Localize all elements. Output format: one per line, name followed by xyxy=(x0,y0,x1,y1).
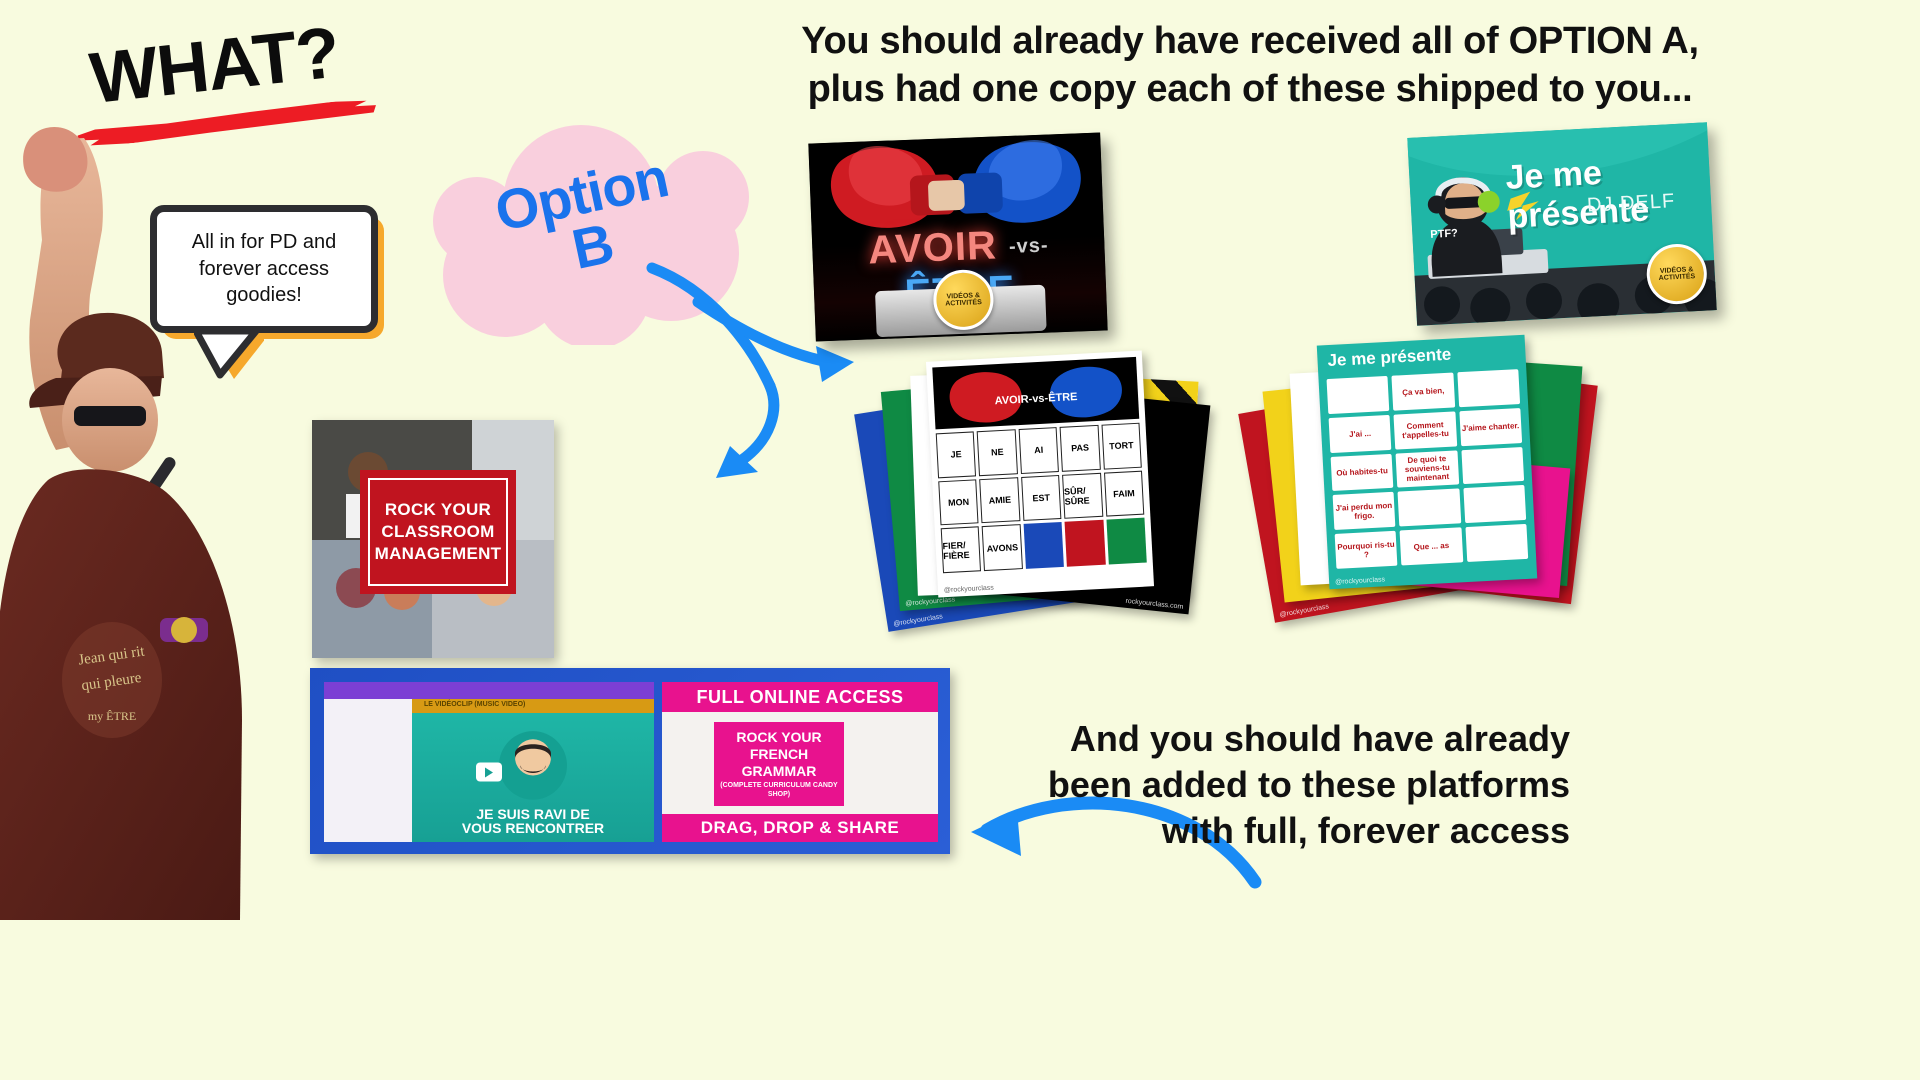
stack-card-top: AVOIR-vs-ÊTRE JE NE AI PAS TORT MON AMIE… xyxy=(926,351,1154,598)
word-card: FIER/ FIÈRE xyxy=(941,527,982,574)
headline-line-1: You should already have received all of … xyxy=(600,18,1900,66)
lms-sidebar xyxy=(324,699,412,842)
thumbnail-avoir-etre[interactable]: AVOIR -vs- ÊTRE VIDÉOS & ACTIVITÉS xyxy=(808,132,1107,341)
lms-menu-label: LE VIDÉOCLIP (MUSIC VIDEO) xyxy=(424,701,525,708)
caption-line-1: JE SUIS RAVI DE xyxy=(476,806,589,822)
fg-line-1: ROCK YOUR xyxy=(736,729,821,745)
watermark: @rockyourclass xyxy=(893,613,943,628)
phrase-card: J'aime chanter. xyxy=(1459,408,1522,446)
word-card: AMIE xyxy=(980,477,1021,524)
phrase-card xyxy=(1457,369,1520,407)
classroom-management-image[interactable]: ROCK YOUR CLASSROOM MANAGEMENT xyxy=(312,420,554,658)
svg-text:my ÊTRE: my ÊTRE xyxy=(88,709,136,723)
phrase-card xyxy=(1461,447,1524,485)
phrase-card: Ça va bien, xyxy=(1392,373,1455,411)
phrase-card: Où habites-tu xyxy=(1331,453,1394,491)
watermark: @rockyourclass xyxy=(944,585,994,595)
fg-line-3: GRAMMAR xyxy=(742,763,817,779)
watermark: @rockyourclass xyxy=(1335,576,1385,586)
lms-screenshot: LE VIDÉOCLIP (MUSIC VIDEO) JE SUIS RAVI … xyxy=(324,682,654,842)
avoir-word: AVOIR xyxy=(867,224,997,273)
lms-video-caption: JE SUIS RAVI DE VOUS RENCONTRER xyxy=(412,807,654,836)
online-platform-panel[interactable]: LE VIDÉOCLIP (MUSIC VIDEO) JE SUIS RAVI … xyxy=(310,668,950,854)
option-b-cloud: Option B xyxy=(385,125,775,345)
stack-card-top: Je me présente Ça va bien, J'ai ... Comm… xyxy=(1317,335,1537,590)
cm-line-1: ROCK YOUR xyxy=(385,500,491,519)
watermark: @rockyourclass xyxy=(1279,603,1329,619)
phrase-card: De quoi te souviens-tu maintenant xyxy=(1396,450,1459,488)
word-card: EST xyxy=(1021,475,1062,522)
fg-line-2: FRENCH xyxy=(750,746,808,762)
bottom-line-2: been added to these platforms xyxy=(970,762,1570,808)
lms-header-bar xyxy=(324,682,654,699)
word-card-blank xyxy=(1106,518,1147,565)
phrase-card xyxy=(1327,376,1390,414)
play-button[interactable] xyxy=(476,762,502,781)
phrase-card: Que ... as xyxy=(1400,527,1463,565)
fg-note: (COMPLETE CURRICULUM CANDY SHOP) xyxy=(714,782,844,799)
classroom-management-text: ROCK YOUR CLASSROOM MANAGEMENT xyxy=(375,499,502,564)
headline-line-2: plus had one copy each of these shipped … xyxy=(600,66,1900,114)
phrase-card xyxy=(1463,485,1526,523)
classroom-management-red-box: ROCK YOUR CLASSROOM MANAGEMENT xyxy=(360,470,516,594)
speech-bubble: All in for PD and forever access goodies… xyxy=(150,205,390,365)
cm-line-3: MANAGEMENT xyxy=(375,544,502,563)
word-card: PAS xyxy=(1060,425,1101,472)
watermark: @rockyourclass xyxy=(905,596,955,607)
word-card: FAIM xyxy=(1104,470,1145,517)
phrase-card xyxy=(1398,489,1461,527)
phrase-card: Pourquoi ris-tu ? xyxy=(1335,531,1398,569)
caption-line-2: VOUS RENCONTRER xyxy=(462,820,604,836)
word-card-blank xyxy=(1023,522,1064,569)
word-card: AI xyxy=(1018,427,1059,474)
word-card: MON xyxy=(938,479,979,526)
page-title: WHAT? xyxy=(86,12,343,120)
card-title: Je me présente xyxy=(1327,345,1452,371)
dj-chest-label: PTF? xyxy=(1430,227,1458,240)
drag-drop-share-footer: DRAG, DROP & SHARE xyxy=(662,814,938,842)
speech-bubble-tail xyxy=(194,331,264,379)
speech-bubble-body: All in for PD and forever access goodies… xyxy=(150,205,378,333)
bottom-line-1: And you should have already xyxy=(970,716,1570,762)
card-stack-avoir-etre[interactable]: @rockyourclass @rockyourclass rockyourcl… xyxy=(870,360,1200,650)
phrase-card: Comment t'appelles-tu xyxy=(1394,411,1457,449)
thumbnail-je-me-presente[interactable]: Je me présente DJ DELF PTF? VIDÉOS & ACT… xyxy=(1407,122,1716,325)
speech-bubble-text: All in for PD and forever access goodies… xyxy=(157,229,371,308)
card-stack-je-me-presente[interactable]: @rockyourclass @rockyourclass Je me prés… xyxy=(1255,340,1585,640)
vs-label: -vs- xyxy=(1009,235,1049,259)
word-card: TORT xyxy=(1101,423,1142,470)
phrase-card: J'ai ... xyxy=(1329,415,1392,453)
word-card: SÛR/ SÛRE xyxy=(1062,472,1103,519)
word-card: AVONS xyxy=(982,524,1023,571)
phrase-card: J'ai perdu mon frigo. xyxy=(1333,492,1396,530)
delf-subtitle: DJ DELF xyxy=(1586,190,1675,218)
full-online-access-header: FULL ONLINE ACCESS xyxy=(662,682,938,712)
french-grammar-card: ROCK YOUR FRENCH GRAMMAR (COMPLETE CURRI… xyxy=(714,722,844,806)
word-card-blank xyxy=(1065,520,1106,567)
cm-line-2: CLASSROOM xyxy=(381,522,494,541)
word-card: NE xyxy=(977,429,1018,476)
headline: You should already have received all of … xyxy=(600,18,1900,113)
french-grammar-screenshot: FULL ONLINE ACCESS ROCK YOUR FRENCH GRAM… xyxy=(662,682,938,842)
bottom-line-3: with full, forever access xyxy=(970,808,1570,854)
bottom-note: And you should have already been added t… xyxy=(970,716,1570,854)
website-watermark: rockyourclass.com xyxy=(1125,598,1183,611)
phrase-card xyxy=(1465,524,1528,562)
word-card: JE xyxy=(936,431,977,478)
